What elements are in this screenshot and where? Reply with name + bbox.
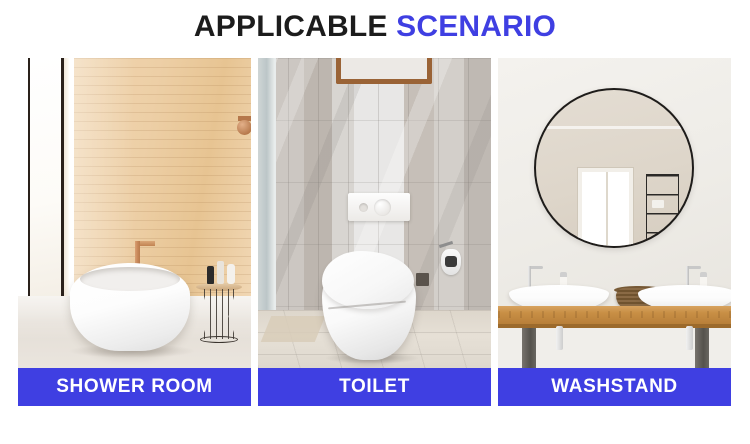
- mirror-shelf-object: [656, 235, 670, 244]
- dual-flush-plate: [348, 193, 410, 221]
- scenario-card-washstand[interactable]: WASHSTAND: [498, 58, 731, 406]
- page-title-accent: SCENARIO: [396, 10, 556, 43]
- round-mirror: [534, 88, 694, 248]
- wall-recess: [416, 273, 429, 286]
- glass-door-panel: [28, 58, 64, 298]
- scenario-card-row: SHOWER ROOM: [18, 58, 732, 406]
- shower-glass-panel: [258, 58, 276, 348]
- half-flush-button: [359, 203, 368, 212]
- toilet-brush-head: [445, 256, 457, 267]
- glass-door-edge: [64, 58, 69, 308]
- left-metal-leg: [522, 328, 536, 368]
- wood-wall: [72, 58, 251, 296]
- page-title-primary: APPLICABLE: [194, 10, 388, 43]
- scenario-card-toilet[interactable]: TOILET: [258, 58, 491, 406]
- shower-room-photo: [18, 58, 251, 368]
- toiletry-bottle: [207, 266, 214, 284]
- toiletry-bottle: [227, 264, 235, 284]
- wood-framed-mirror: [336, 58, 432, 84]
- scenario-card-caption: TOILET: [258, 368, 491, 406]
- left-faucet: [528, 266, 531, 288]
- shower-head-icon: [237, 120, 251, 135]
- toiletry-bottle: [217, 261, 224, 284]
- bathtub-rim: [80, 267, 180, 291]
- toilet-photo: [258, 58, 491, 368]
- scenario-card-caption: SHOWER ROOM: [18, 368, 251, 406]
- floor-tile-accent: [261, 316, 326, 342]
- mirror-shelf-object: [652, 200, 664, 208]
- scenario-card-caption: WASHSTAND: [498, 368, 731, 406]
- full-flush-button: [374, 199, 391, 216]
- bathtub: [70, 263, 190, 351]
- mirror-ceiling-line: [536, 126, 694, 129]
- right-drain-pipe: [686, 326, 693, 350]
- scenario-card-shower-room[interactable]: SHOWER ROOM: [18, 58, 251, 406]
- right-metal-leg: [695, 328, 709, 368]
- washstand-photo: [498, 58, 731, 368]
- applicable-scenario-banner: APPLICABLE SCENARIO: [0, 0, 750, 444]
- left-drain-pipe: [556, 326, 563, 350]
- mirror-window-reflection: [578, 168, 633, 248]
- page-title: APPLICABLE SCENARIO: [0, 10, 750, 44]
- side-table-foot-ring: [200, 336, 238, 343]
- wooden-countertop: [498, 306, 731, 324]
